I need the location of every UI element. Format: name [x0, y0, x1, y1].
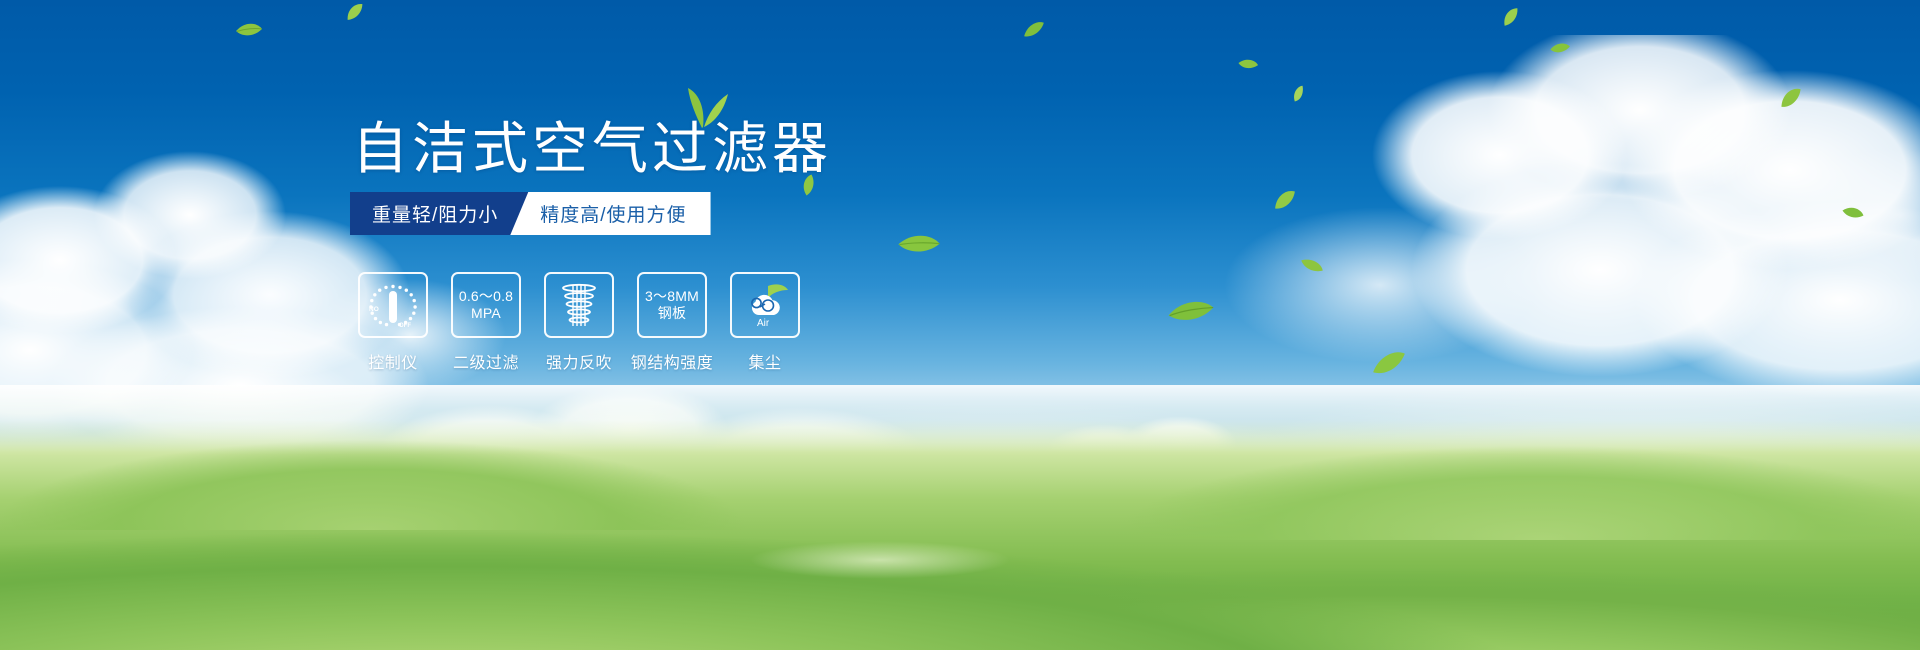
feature-label-dust-collection: 集尘 — [748, 349, 781, 373]
feature-box-steel-structure: 3～8MM 钢板 — [637, 272, 707, 338]
product-hero-banner: 自洁式空气过滤器 重量轻/阻力小 精度高/使用方便 — [0, 0, 1920, 650]
feature-item-controller[interactable]: NO OFF 控制仪 — [358, 272, 428, 373]
svg-text:Air: Air — [757, 318, 770, 329]
feature-box-blowback — [544, 272, 614, 338]
gauge-dial-icon: NO OFF — [366, 280, 420, 330]
feature-box-dust-collection: Air — [730, 272, 800, 338]
feature-item-blowback[interactable]: 强力反吹 — [544, 272, 614, 373]
steel-plate-label: 钢板 — [658, 305, 686, 322]
feature-label-blowback: 强力反吹 — [546, 349, 612, 373]
pressure-unit-value: MPA — [471, 305, 501, 322]
pressure-range-value: 0.6～0.8 — [459, 288, 513, 305]
feature-item-two-stage-filter[interactable]: 0.6～0.8 MPA 二级过滤 — [451, 272, 521, 373]
page-title: 自洁式空气过滤器 — [352, 118, 832, 180]
feature-icon-row: NO OFF 控制仪 0.6～0.8 MPA 二级过滤 — [358, 272, 800, 373]
feature-label-two-stage-filter: 二级过滤 — [453, 349, 519, 373]
steel-thickness-value: 3～8MM — [645, 288, 699, 305]
coil-blowback-icon — [552, 280, 606, 330]
feature-label-controller: 控制仪 — [368, 349, 418, 373]
feature-tab-group: 重量轻/阻力小 精度高/使用方便 — [350, 192, 711, 235]
feature-box-two-stage-filter: 0.6～0.8 MPA — [451, 272, 521, 338]
tab-precision-convenience[interactable]: 精度高/使用方便 — [510, 192, 710, 235]
svg-text:OFF: OFF — [399, 323, 411, 329]
feature-label-steel-structure: 钢结构强度 — [631, 349, 714, 373]
air-cloud-icon: Air — [738, 280, 792, 330]
feature-box-controller: NO OFF — [358, 272, 428, 338]
tab-weight-resistance[interactable]: 重量轻/阻力小 — [350, 192, 528, 235]
feature-item-steel-structure[interactable]: 3～8MM 钢板 钢结构强度 — [637, 272, 707, 373]
svg-text:NO: NO — [369, 306, 379, 313]
feature-item-dust-collection[interactable]: Air 集尘 — [730, 272, 800, 373]
